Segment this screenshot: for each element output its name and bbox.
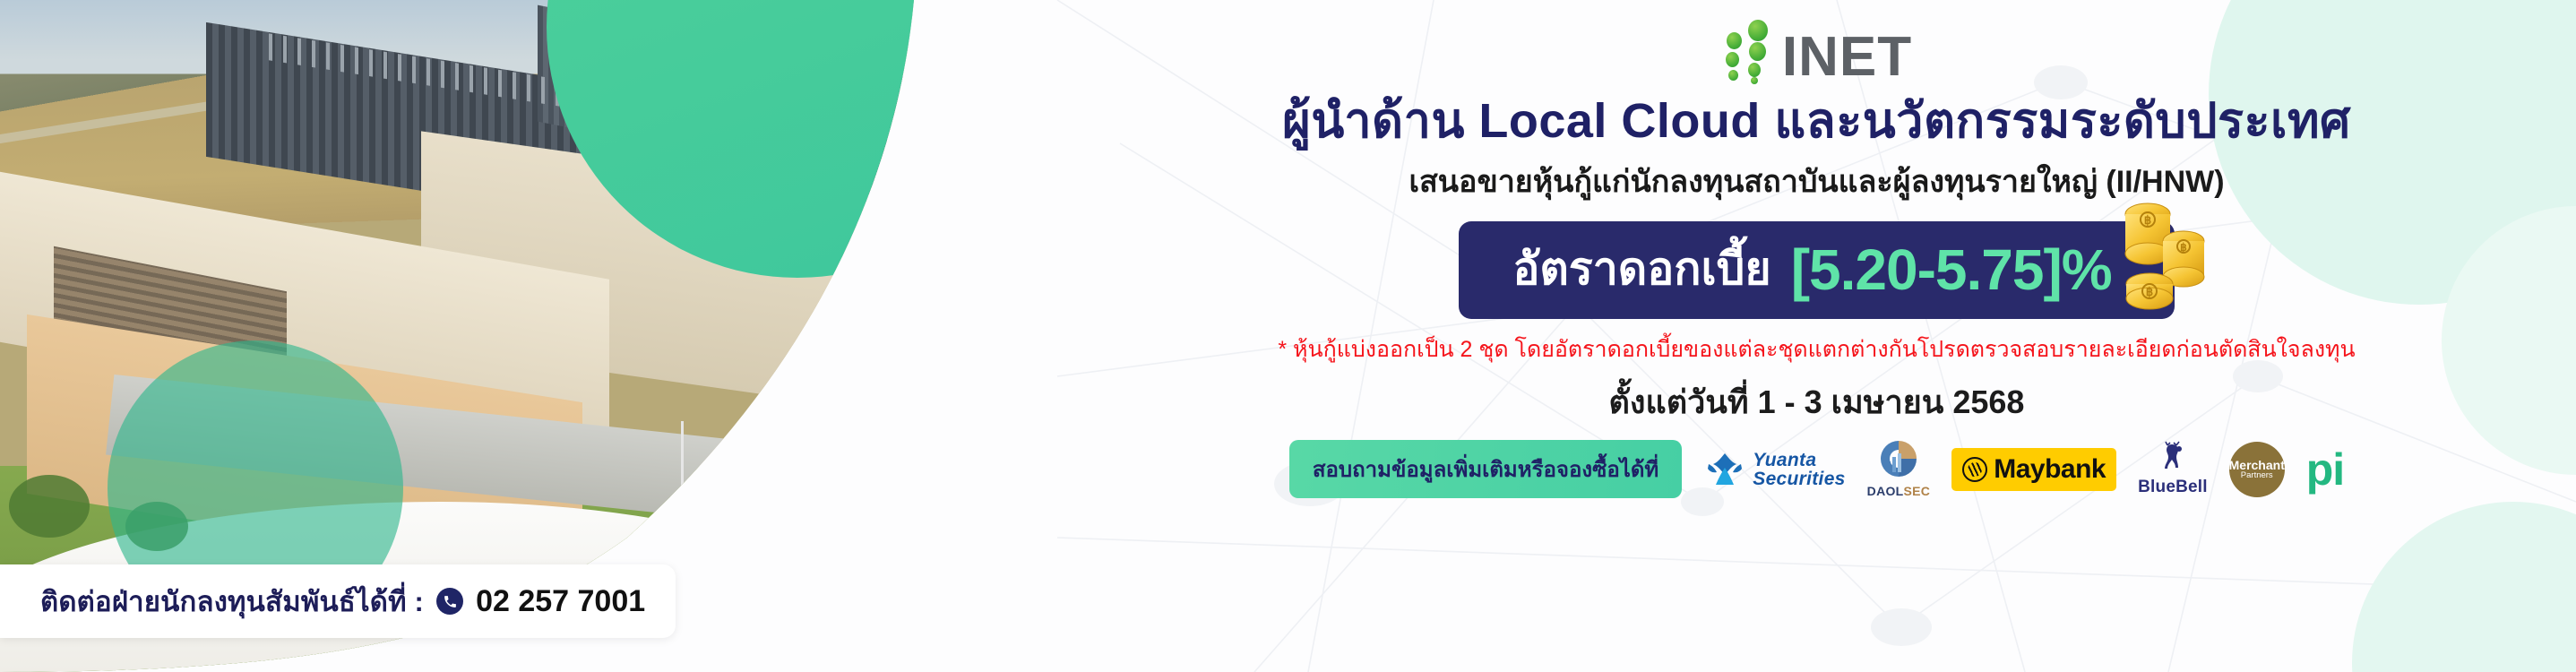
- interest-rate-value: [5.20-5.75]%: [1791, 237, 2112, 303]
- inquire-or-subscribe-button[interactable]: สอบถามข้อมูลเพิ่มเติมหรือจองซื้อได้ที่: [1289, 440, 1682, 498]
- merchant-name-line2: Partners: [2241, 471, 2273, 480]
- merchant-circle-icon: Merchant Partners: [2229, 442, 2285, 497]
- yuanta-name-line2: Securities: [1753, 470, 1845, 488]
- svg-text:฿: ฿: [2146, 285, 2153, 298]
- daol-name-line1: DAOL: [1867, 484, 1904, 498]
- daol-wordmark: DAOLSEC: [1867, 484, 1931, 500]
- partner-logo-merchant-partners[interactable]: Merchant Partners: [2229, 443, 2285, 496]
- phone-icon: [436, 588, 463, 615]
- yuanta-name-line1: Yuanta: [1753, 451, 1845, 470]
- green-dots-icon: [1721, 18, 1777, 82]
- yuanta-star-icon: [1705, 450, 1745, 489]
- offering-period: ตั้งแต่วันที่ 1 - 3 เมษายน 2568: [1609, 376, 2025, 427]
- maybank-wordmark: Maybank: [1994, 454, 2106, 485]
- promo-banner: ติดต่อฝ่ายนักลงทุนสัมพันธ์ได้ที่ : 02 25…: [0, 0, 2576, 672]
- interest-rate-box: อัตราดอกเบี้ย [5.20-5.75]%: [1459, 221, 2174, 319]
- interest-rate-block: อัตราดอกเบี้ย [5.20-5.75]% ฿: [1459, 221, 2174, 319]
- contact-phone-number[interactable]: 02 257 7001: [476, 584, 645, 619]
- inet-logo: INET: [1721, 13, 1912, 82]
- svg-text:฿: ฿: [2180, 241, 2187, 254]
- pi-wordmark-icon: pi: [2306, 452, 2344, 487]
- page-subtitle: เสนอขายหุ้นกู้แก่นักลงทุนสถาบันและผู้ลงท…: [1409, 157, 2224, 205]
- svg-text:฿: ฿: [2144, 213, 2151, 227]
- photo-tree: [9, 475, 90, 538]
- yuanta-wordmark: Yuanta Securities: [1753, 451, 1845, 488]
- gold-coins-icon: ฿ ฿ ฿: [2114, 198, 2212, 310]
- disclaimer-note: * หุ้นกู้แบ่งออกเป็น 2 ชุด โดยอัตราดอกเบ…: [1278, 332, 2355, 367]
- partner-logo-yuanta[interactable]: Yuanta Securities: [1705, 443, 1845, 496]
- merchant-name-line1: Merchant: [2229, 459, 2285, 472]
- partner-logo-daol[interactable]: DAOLSEC: [1867, 443, 1931, 496]
- interest-rate-label: อัตราดอกเบี้ย: [1512, 234, 1770, 305]
- maybank-tiger-icon: [1962, 457, 1987, 482]
- page-title: ผู้นำด้าน Local Cloud และนวัตกรรมระดับปร…: [1282, 95, 2351, 148]
- investor-relations-contact-card[interactable]: ติดต่อฝ่ายนักลงทุนสัมพันธ์ได้ที่ : 02 25…: [0, 564, 676, 638]
- contact-label: ติดต่อฝ่ายนักลงทุนสัมพันธ์ได้ที่ :: [40, 579, 424, 624]
- partner-logo-pi[interactable]: pi: [2306, 443, 2344, 496]
- bluebell-wordmark: BlueBell: [2138, 478, 2208, 497]
- daol-name-line2: SEC: [1904, 484, 1931, 498]
- daol-pie-icon: [1877, 468, 1920, 483]
- partners-row: สอบถามข้อมูลเพิ่มเติมหรือจองซื้อได้ที่ Y…: [1289, 440, 2344, 498]
- partner-logo-bluebell[interactable]: BlueBell: [2138, 443, 2208, 496]
- bluebell-deer-icon: [2155, 446, 2191, 480]
- inet-logo-wordmark: INET: [1782, 31, 1912, 82]
- partner-logos: Yuanta Securities: [1705, 443, 2344, 496]
- offer-content-column: INET ผู้นำด้าน Local Cloud และนวัตกรรมระ…: [1057, 0, 2576, 672]
- partner-logo-maybank[interactable]: Maybank: [1951, 443, 2116, 496]
